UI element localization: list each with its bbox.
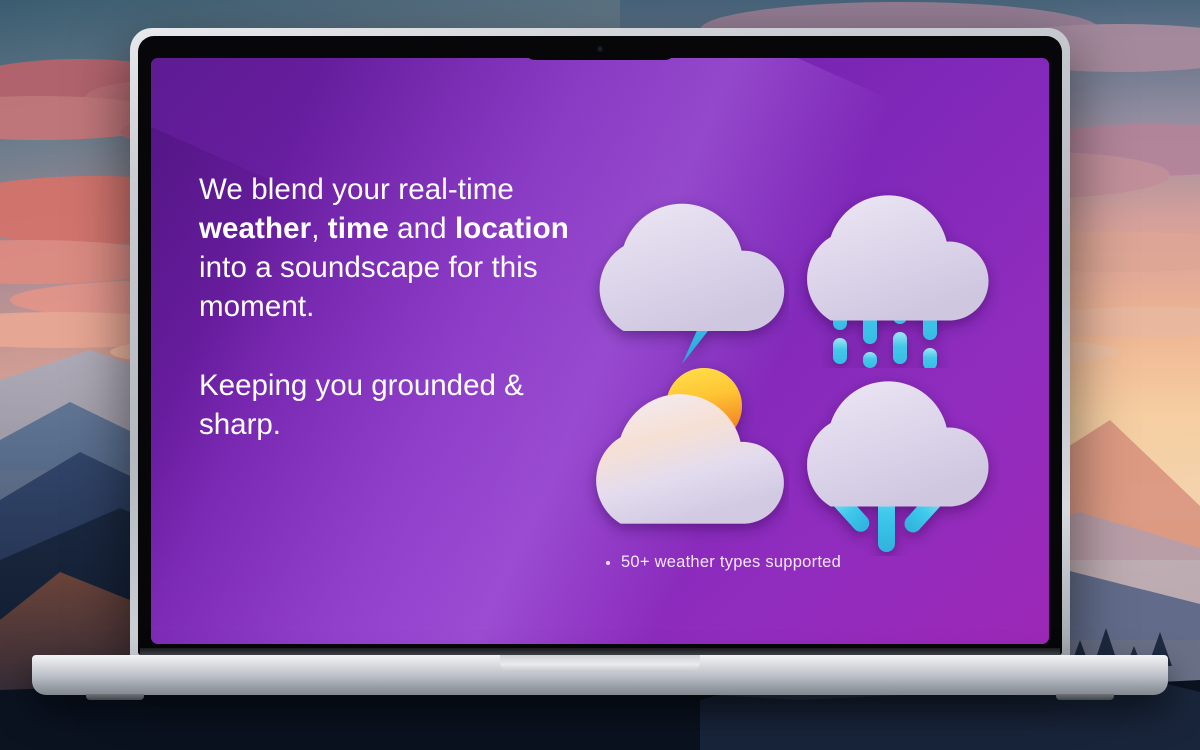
headline-part-1: We blend your real-time (199, 173, 514, 206)
thunderstorm-icon[interactable] (579, 168, 789, 356)
snow-icon[interactable] (789, 356, 999, 544)
footnote-supported-types: 50+ weather types supported (606, 553, 841, 572)
headline-bold-location: location (455, 212, 569, 245)
headline-part-3: and (389, 212, 455, 245)
partly-sunny-icon[interactable] (579, 356, 789, 544)
laptop-screen[interactable]: We blend your real-time weather, time an… (151, 58, 1049, 644)
weather-icon-grid (579, 168, 999, 544)
headline: We blend your real-time weather, time an… (199, 170, 569, 326)
subline: Keeping you grounded & sharp. (199, 366, 569, 444)
footnote-label: 50+ weather types supported (621, 553, 841, 572)
laptop-bezel: We blend your real-time weather, time an… (138, 36, 1062, 655)
headline-bold-time: time (328, 212, 389, 245)
laptop-device: We blend your real-time weather, time an… (0, 0, 1200, 750)
rain-icon[interactable] (789, 168, 999, 356)
headline-bold-weather: weather (199, 212, 311, 245)
laptop-lid: We blend your real-time weather, time an… (130, 28, 1070, 660)
bullet-icon (606, 561, 610, 565)
marketing-copy: We blend your real-time weather, time an… (199, 170, 569, 444)
headline-part-2: , (311, 212, 328, 245)
headline-part-4: into a soundscape for this moment. (199, 251, 538, 323)
